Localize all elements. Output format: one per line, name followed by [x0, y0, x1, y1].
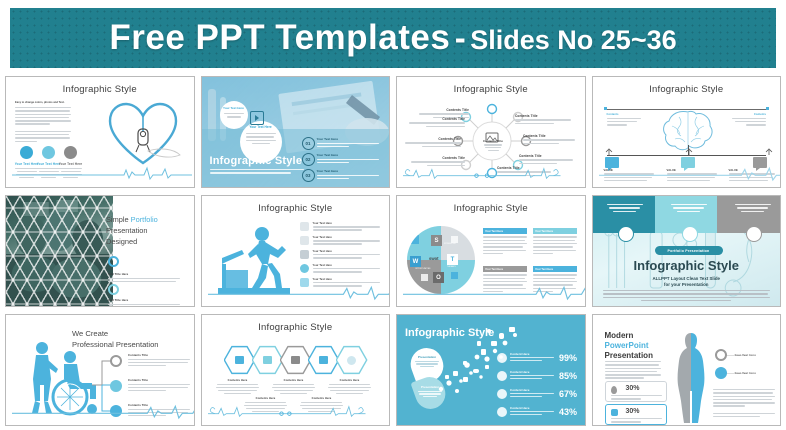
ppt-template-gallery-page: Free PPT Templates - Slides No 25~36 Inf…	[0, 0, 786, 430]
human-body-silhouette-icon	[671, 331, 711, 425]
slide-2-bubble-large-label: Your Text Here	[240, 125, 282, 129]
slide-1-icon-1	[20, 146, 33, 159]
slide-6-item-5-label: Your Text Here	[313, 278, 380, 281]
slide-12-stat-2[interactable]: 30%	[605, 404, 667, 425]
slide-10-item-5-label: Contents Here	[328, 379, 372, 382]
slide-12-side-item-1-label: Your Text Here	[735, 353, 757, 357]
slide-12-side-item-1-icon	[715, 349, 727, 361]
slide-thumbnail-8[interactable]: Portfolio Presentation Infographic Style…	[592, 195, 782, 307]
slide-thumbnail-3[interactable]: Infographic Style	[396, 76, 586, 188]
swot-letter-t: T	[447, 254, 458, 265]
slide-12-stat-2-percent: 30%	[626, 408, 640, 415]
slide-3-node-2-label: Contents Title	[409, 117, 465, 121]
slide-1-icon-3	[64, 146, 77, 159]
slide-3-node-5-label: Contents Title	[515, 114, 571, 118]
globe-icon	[347, 356, 356, 365]
slide-thumbnail-11[interactable]: Infographic Style Presentation Presentat…	[396, 314, 586, 426]
slide-2-item-1-number: 01	[302, 137, 315, 150]
slide-4-title: Infographic Style	[593, 84, 781, 95]
slide-2-item-2-label: Your Text Here	[317, 153, 379, 157]
slide-11-stat-3-label: Content Here	[510, 388, 529, 392]
slide-8-title: Infographic Style	[593, 258, 781, 273]
slide-3-node-7-label: Contents Title	[519, 154, 573, 158]
slide-11-stat-2-label: Content Here	[510, 370, 529, 374]
slide-8-badge: Portfolio Presentation	[655, 246, 723, 255]
slide-10-item-2-label: Contents Here	[244, 397, 288, 400]
slide-9-item-2-label: Contents Title	[128, 378, 190, 382]
slide-1-title: Infographic Style	[6, 84, 194, 95]
slide-5-item-2-label: Add Title Here	[108, 298, 180, 302]
slide-7-box-2-header: Your Text Here	[533, 228, 577, 234]
slide-10-item-3-label: Contents Here	[272, 379, 316, 382]
slide-thumbnail-10[interactable]: Infographic Style	[201, 314, 391, 426]
banner-title-main: Free PPT Templates	[109, 18, 450, 57]
slide-4-top-left-label: Contents	[607, 113, 641, 116]
banner-title-dash: -	[455, 19, 466, 56]
slide-2-play-icon	[250, 111, 264, 125]
swot-label-weaknesses: WEAKNESSES	[408, 235, 410, 248]
slide-12-stat-1[interactable]: 30%	[605, 381, 667, 402]
slide-3-node-6-label: Contents Title	[523, 134, 575, 138]
camera-icon	[263, 356, 272, 364]
slide-12-body	[605, 361, 661, 381]
megaphone-icon	[235, 356, 244, 364]
slide-3-node-3-label: Contents Title	[405, 137, 461, 141]
slide-11-stat-4-label: Content Here	[510, 406, 529, 410]
slide-7-box-3-header: Your Text Here	[483, 266, 527, 272]
slide-thumbnail-4[interactable]: Infographic Style Contents Contents	[592, 76, 782, 188]
slide-5-title-plain: Simple	[106, 215, 131, 224]
slide-8-subtitle-1: ALLPPT Layout Clean Text Slide	[593, 276, 781, 281]
swot-icon-3	[451, 272, 458, 279]
swot-icon-4	[421, 274, 428, 281]
slide-10-title: Infographic Style	[202, 322, 390, 333]
drop-icon	[611, 386, 617, 394]
slide-5-item-1-label: Add Title Here	[108, 272, 180, 276]
slide-1-intro-heading: Easy to change colors, photos and Text.	[15, 101, 71, 104]
ekg-line-icon	[403, 166, 561, 180]
slide-3-node-4-label: Contents Title	[411, 156, 465, 160]
ekg-line-icon	[208, 285, 390, 299]
slide-10-item-4-label: Contents Here	[300, 397, 344, 400]
slide-2-item-3-label: Your Text Here	[317, 169, 379, 173]
stethoscope-icon	[300, 222, 309, 231]
slide-8-body	[603, 290, 771, 301]
slide-7-box-4-header: Your Text Here	[533, 266, 577, 272]
briefcase-icon	[291, 356, 300, 364]
slide-11-stat-1-label: Content Here	[510, 352, 529, 356]
slide-11-stat-3-icon	[497, 389, 507, 399]
slide-4-rule-cap-right	[766, 107, 769, 110]
slide-2-item-1-label: Your Text Here	[317, 137, 379, 141]
heart-stethoscope-icon	[102, 97, 184, 169]
slide-2-item-3-number: 03	[302, 169, 315, 182]
slide-1-icon-2	[42, 146, 55, 159]
slide-11-stat-4-percent: 43%	[559, 407, 577, 417]
hexagon-5[interactable]	[336, 345, 368, 375]
slide-9-item-1-icon	[110, 355, 122, 367]
slide-11-stat-3-percent: 67%	[559, 389, 577, 399]
slides-grid: Infographic Style Easy to change colors,…	[5, 76, 781, 426]
slide-5-item-1-icon	[108, 256, 119, 267]
slide-12-title-line1: Modern	[605, 331, 653, 340]
pill-icon	[300, 236, 309, 245]
swot-letter-s: S	[431, 235, 442, 246]
slide-3-title: Infographic Style	[397, 84, 585, 95]
slide-thumbnail-9[interactable]: We Create Professional Presentation	[5, 314, 195, 426]
slide-6-item-2-label: Your Text Here	[313, 236, 380, 239]
banner-title-sub: Slides No 25~36	[470, 25, 676, 55]
slide-thumbnail-6[interactable]: Infographic Style	[201, 195, 391, 307]
swot-letter-w: W	[410, 256, 421, 267]
slide-9-item-1-label: Contents Title	[128, 353, 190, 357]
slide-11-stat-1-icon	[497, 353, 507, 363]
hexagon-mask-overlay	[6, 196, 113, 306]
slide-12-side-body	[713, 389, 775, 419]
cloud-icon	[618, 226, 634, 242]
ekg-line-icon	[403, 285, 585, 299]
slide-6-item-1-label: Your Text Here	[313, 222, 380, 225]
slide-12-side-item-2-icon	[715, 367, 727, 379]
slide-6-item-3-label: Your Text Here	[313, 250, 380, 253]
swot-label-opportunities: OPPORTUNITIES	[415, 268, 430, 270]
slide-thumbnail-12[interactable]: Modern PowerPoint Presentation 30% 30%	[592, 314, 782, 426]
slide-thumbnail-2[interactable]: Your Text Here Your Text Here In	[201, 76, 391, 188]
slide-4-top-right-label: Contents	[732, 113, 766, 116]
slide-11-stat-2-icon	[497, 371, 507, 381]
slide-9-title-line1: We Create	[72, 329, 159, 338]
swot-center-label: swot	[429, 256, 439, 261]
banner-title: Free PPT Templates - Slides No 25~36	[109, 18, 676, 58]
syringe-icon	[300, 264, 309, 273]
ekg-line-icon	[12, 404, 194, 418]
slide-12-title-line2: PowerPoint	[605, 341, 653, 350]
slide-12-stat-1-percent: 30%	[626, 385, 640, 392]
slide-7-title: Infographic Style	[397, 203, 585, 214]
slide-11-stat-4-icon	[497, 407, 507, 417]
slide-12-title-line3: Presentation	[605, 351, 653, 360]
slide-5-title-line2: Presentation	[106, 225, 190, 236]
slide-11-stat-2-percent: 85%	[559, 371, 577, 381]
gear-icon	[746, 226, 762, 242]
slide-5-title-accent: Portfolio	[131, 215, 158, 224]
swot-icon-2	[451, 236, 458, 243]
slide-2-bubble-small-label: Your Text Here	[220, 106, 248, 110]
slide-5-title-line3: Designed	[106, 236, 190, 247]
swot-icon-1	[410, 235, 419, 244]
list-item[interactable]: Your Text Here	[300, 222, 380, 233]
slide-2-item-2-number: 02	[302, 153, 315, 166]
slide-3-center-label: Contents Title	[483, 139, 503, 143]
clipboard-icon	[300, 250, 309, 259]
ekg-line-icon	[599, 166, 781, 180]
slide-3-node-1-label: Contents Title	[419, 108, 469, 112]
slide-5-photo	[6, 196, 113, 306]
slide-5-item-2-icon	[108, 284, 119, 295]
slide-7-box-1-header: Your Text Here	[483, 228, 527, 234]
car-icon	[319, 356, 328, 364]
slide-6-item-list: Your Text Here Your Text Here	[300, 222, 380, 289]
list-item[interactable]: Your Text Here	[300, 236, 380, 247]
slide-thumbnail-5[interactable]: Simple Portfolio Presentation Designed A…	[5, 195, 195, 307]
slide-10-item-1-label: Contents Here	[216, 379, 260, 382]
slide-8-subtitle-2: for your Presentation	[593, 282, 781, 287]
slide-6-title: Infographic Style	[202, 203, 390, 214]
slide-11-stat-1-percent: 99%	[559, 353, 577, 363]
swot-label-threats: THREATS	[447, 266, 456, 268]
list-item[interactable]: Your Text Here	[300, 250, 380, 261]
slide-12-side-item-2-label: Your Text Here	[735, 371, 757, 375]
slide-thumbnail-7[interactable]: Infographic Style W S T O swot WEAKNESSE…	[396, 195, 586, 307]
slide-6-item-4-label: Your Text Here	[313, 264, 380, 267]
slide-thumbnail-1[interactable]: Infographic Style Easy to change colors,…	[5, 76, 195, 188]
slide-9-item-2-icon	[110, 380, 122, 392]
swot-label-strengths: STRENGTHS	[444, 243, 456, 245]
slide-4-rule-cap-left	[604, 107, 607, 110]
image-icon	[682, 226, 698, 242]
tooth-icon	[611, 409, 618, 416]
swot-letter-o: O	[433, 272, 444, 283]
ekg-line-icon	[12, 166, 192, 180]
ekg-line-icon	[208, 404, 366, 418]
page-banner: Free PPT Templates - Slides No 25~36	[10, 8, 776, 68]
swot-circle-diagram: W S T O swot WEAKNESSES STRENGTHS THREAT…	[407, 226, 475, 294]
list-item[interactable]: Your Text Here	[300, 264, 380, 275]
